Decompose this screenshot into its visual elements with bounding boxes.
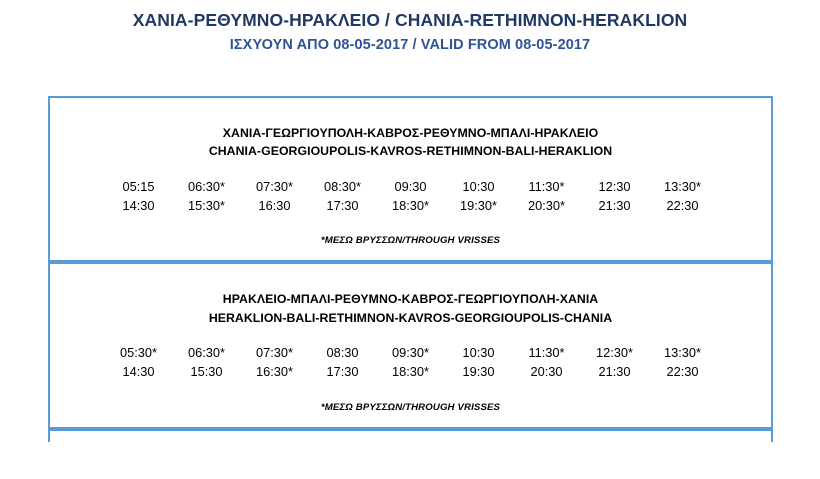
departure-time: 10:30	[445, 343, 513, 362]
departure-time: 10:30	[445, 177, 513, 196]
route-section-2-content: ΗΡΑΚΛΕΙΟ-ΜΠΑΛΙ-ΡΕΘΥΜΝΟ-ΚΑΒΡΟΣ-ΓΕΩΡΓΙΟΥΠΟ…	[50, 264, 771, 426]
departure-time: 19:30*	[445, 196, 513, 215]
departure-time: 07:30*	[241, 177, 309, 196]
departure-time: 08:30	[309, 343, 377, 362]
departure-time: 20:30*	[513, 196, 581, 215]
route-1-name-latin: CHANIA-GEORGIOUPOLIS-KAVROS-RETHIMNON-BA…	[60, 142, 761, 160]
route-2-names: ΗΡΑΚΛΕΙΟ-ΜΠΑΛΙ-ΡΕΘΥΜΝΟ-ΚΑΒΡΟΣ-ΓΕΩΡΓΙΟΥΠΟ…	[60, 290, 761, 327]
departure-time: 09:30	[377, 177, 445, 196]
departure-time: 06:30*	[173, 343, 241, 362]
validity-subtitle: ΙΣΧΥΟΥΝ ΑΠΟ 08-05-2017 / VALID FROM 08-0…	[0, 36, 820, 54]
departure-time: 05:30*	[105, 343, 173, 362]
departure-time: 16:30*	[241, 362, 309, 381]
route-2-name-latin: HERAKLION-BALI-RETHIMNON-KAVROS-GEORGIOU…	[60, 309, 761, 327]
timetable-page: ΧΑΝΙΑ-ΡΕΘΥΜΝΟ-ΗΡΑΚΛΕΙΟ / CHANIA-RETHIMNO…	[0, 0, 820, 479]
departure-time: 17:30	[309, 362, 377, 381]
departure-time: 15:30*	[173, 196, 241, 215]
departure-time: 07:30*	[241, 343, 309, 362]
route-2-times-row-1: 05:30* 06:30* 07:30* 08:30 09:30* 10:30 …	[105, 343, 717, 362]
departure-time: 22:30	[649, 362, 717, 381]
departure-time: 20:30	[513, 362, 581, 381]
departure-time: 15:30	[173, 362, 241, 381]
route-1-footnote: *ΜΕΣΩ ΒΡΥΣΣΩΝ/THROUGH VRISSES	[60, 235, 761, 246]
departure-time: 17:30	[309, 196, 377, 215]
route-1-times: 05:15 06:30* 07:30* 08:30* 09:30 10:30 1…	[60, 177, 761, 215]
departure-time: 11:30*	[513, 343, 581, 362]
departure-time: 09:30*	[377, 343, 445, 362]
route-2-times-row-2: 14:30 15:30 16:30* 17:30 18:30* 19:30 20…	[105, 362, 717, 381]
page-header: ΧΑΝΙΑ-ΡΕΘΥΜΝΟ-ΗΡΑΚΛΕΙΟ / CHANIA-RETHIMNO…	[0, 0, 820, 54]
departure-time: 13:30*	[649, 177, 717, 196]
route-section-1-content: ΧΑΝΙΑ-ΓΕΩΡΓΙΟΥΠΟΛΗ-ΚΑΒΡΟΣ-ΡΕΘΥΜΝΟ-ΜΠΑΛΙ-…	[50, 98, 771, 260]
departure-time: 12:30*	[581, 343, 649, 362]
departure-time: 08:30*	[309, 177, 377, 196]
departure-time: 16:30	[241, 196, 309, 215]
route-1-times-row-1: 05:15 06:30* 07:30* 08:30* 09:30 10:30 1…	[105, 177, 717, 196]
departure-time: 14:30	[105, 196, 173, 215]
departure-time: 21:30	[581, 362, 649, 381]
departure-time: 12:30	[581, 177, 649, 196]
route-section-3	[48, 429, 773, 442]
departure-time: 06:30*	[173, 177, 241, 196]
route-1-names: ΧΑΝΙΑ-ΓΕΩΡΓΙΟΥΠΟΛΗ-ΚΑΒΡΟΣ-ΡΕΘΥΜΝΟ-ΜΠΑΛΙ-…	[60, 124, 761, 161]
departure-time: 19:30	[445, 362, 513, 381]
departure-time: 14:30	[105, 362, 173, 381]
route-1-times-row-2: 14:30 15:30* 16:30 17:30 18:30* 19:30* 2…	[105, 196, 717, 215]
route-1-name-greek: ΧΑΝΙΑ-ΓΕΩΡΓΙΟΥΠΟΛΗ-ΚΑΒΡΟΣ-ΡΕΘΥΜΝΟ-ΜΠΑΛΙ-…	[60, 124, 761, 142]
route-section-1: ΧΑΝΙΑ-ΓΕΩΡΓΙΟΥΠΟΛΗ-ΚΑΒΡΟΣ-ΡΕΘΥΜΝΟ-ΜΠΑΛΙ-…	[48, 96, 773, 262]
departure-time: 18:30*	[377, 196, 445, 215]
route-2-name-greek: ΗΡΑΚΛΕΙΟ-ΜΠΑΛΙ-ΡΕΘΥΜΝΟ-ΚΑΒΡΟΣ-ΓΕΩΡΓΙΟΥΠΟ…	[60, 290, 761, 308]
route-2-footnote: *ΜΕΣΩ ΒΡΥΣΣΩΝ/THROUGH VRISSES	[60, 402, 761, 413]
departure-time: 11:30*	[513, 177, 581, 196]
departure-time: 13:30*	[649, 343, 717, 362]
departure-time: 18:30*	[377, 362, 445, 381]
page-title: ΧΑΝΙΑ-ΡΕΘΥΜΝΟ-ΗΡΑΚΛΕΙΟ / CHANIA-RETHIMNO…	[0, 10, 820, 32]
departure-time: 05:15	[105, 177, 173, 196]
route-section-2: ΗΡΑΚΛΕΙΟ-ΜΠΑΛΙ-ΡΕΘΥΜΝΟ-ΚΑΒΡΟΣ-ΓΕΩΡΓΙΟΥΠΟ…	[48, 262, 773, 428]
timetable-container: ΧΑΝΙΑ-ΓΕΩΡΓΙΟΥΠΟΛΗ-ΚΑΒΡΟΣ-ΡΕΘΥΜΝΟ-ΜΠΑΛΙ-…	[48, 96, 773, 442]
departure-time: 21:30	[581, 196, 649, 215]
route-2-times: 05:30* 06:30* 07:30* 08:30 09:30* 10:30 …	[60, 343, 761, 381]
departure-time: 22:30	[649, 196, 717, 215]
